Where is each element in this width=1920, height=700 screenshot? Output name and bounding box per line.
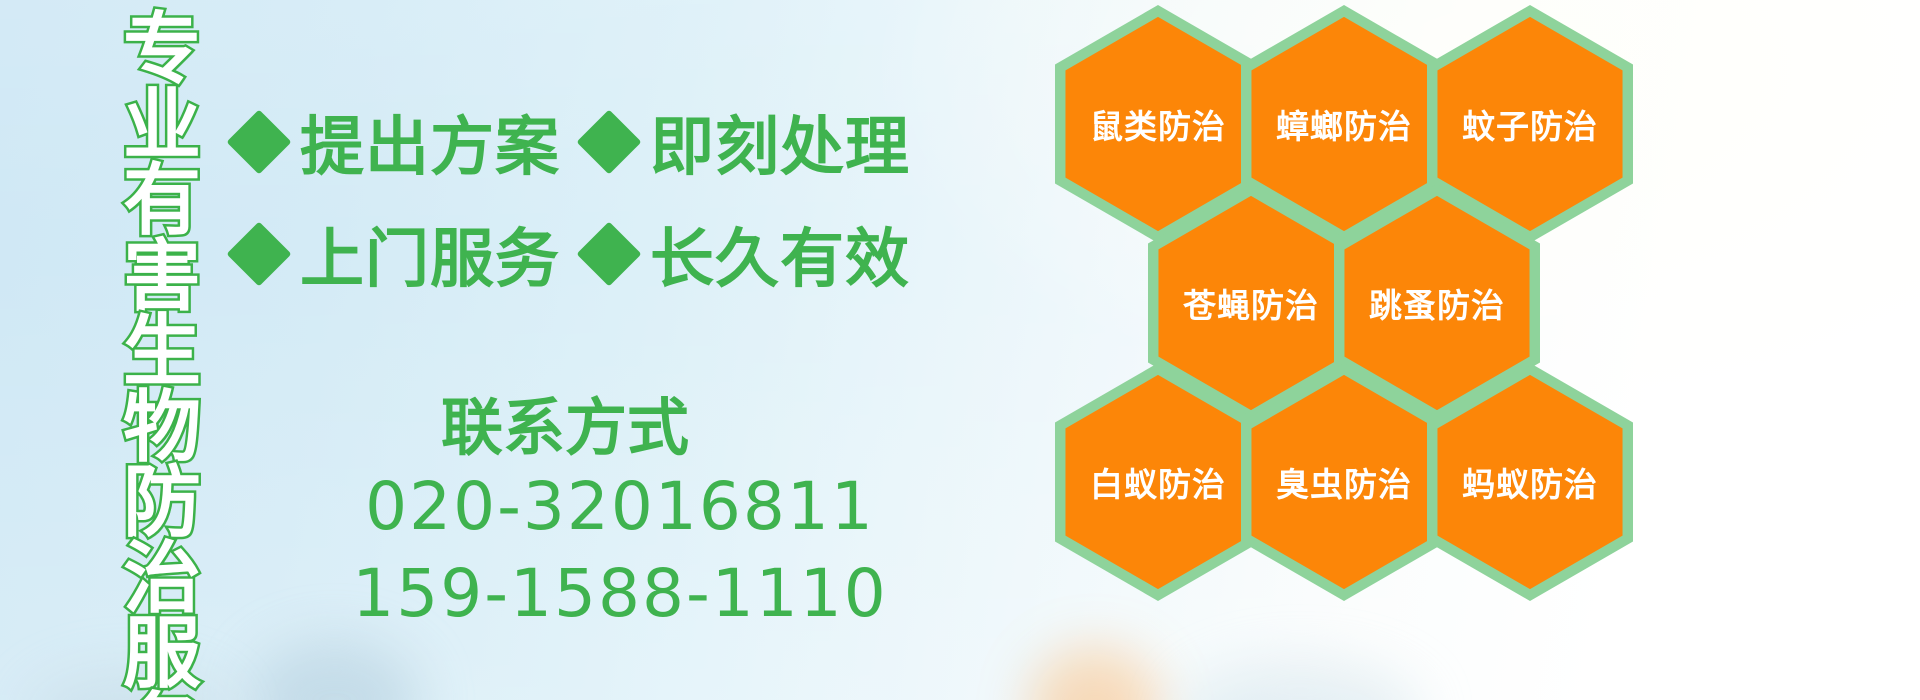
vertical-headline-char: 业	[123, 90, 201, 163]
phone-number-landline[interactable]: 020-32016811	[300, 463, 940, 550]
vertical-headline-char: 服	[123, 618, 201, 691]
background-blur-shape-left	[250, 640, 420, 700]
service-label: 白蚁防治	[1055, 458, 1261, 506]
feature-label: 上门服务	[300, 208, 560, 300]
vertical-headline-char: 生	[123, 316, 201, 389]
feature-row: 提出方案 即刻处理	[236, 86, 876, 198]
pest-control-banner: 专 业 有 害 生 物 防 治 服 务 提出方案 即刻处理 上门服务	[0, 0, 1920, 700]
vertical-headline-char: 专	[123, 14, 201, 87]
feature-row: 上门服务 长久有效	[236, 198, 876, 310]
diamond-icon	[226, 109, 291, 174]
vertical-headline-char: 有	[123, 165, 201, 238]
feature-list: 提出方案 即刻处理 上门服务 长久有效	[236, 86, 876, 310]
service-hex-termite[interactable]: 白蚁防治	[1055, 363, 1261, 601]
service-label: 鼠类防治	[1055, 100, 1261, 148]
vertical-headline-char: 害	[123, 241, 201, 314]
feature-item-propose-plan: 提出方案	[236, 96, 560, 188]
service-hex-bedbug[interactable]: 臭虫防治	[1241, 363, 1447, 601]
contact-title: 联系方式	[190, 392, 940, 463]
vertical-headline-char: 防	[123, 467, 201, 540]
feature-label: 提出方案	[300, 96, 560, 188]
service-label: 跳蚤防治	[1334, 279, 1540, 327]
service-label: 蚂蚁防治	[1427, 458, 1633, 506]
diamond-icon	[576, 109, 641, 174]
contact-block: 联系方式 020-32016811 159-1588-1110	[300, 392, 940, 638]
feature-item-long-lasting: 长久有效	[586, 208, 910, 300]
diamond-icon	[576, 221, 641, 286]
service-label: 蟑螂防治	[1241, 100, 1447, 148]
service-label: 臭虫防治	[1241, 458, 1447, 506]
feature-label: 长久有效	[650, 208, 910, 300]
diamond-icon	[226, 221, 291, 286]
vertical-headline-char: 治	[123, 543, 201, 616]
phone-number-mobile[interactable]: 159-1588-1110	[300, 550, 940, 637]
feature-item-onsite-service: 上门服务	[236, 208, 560, 300]
service-hex-ant[interactable]: 蚂蚁防治	[1427, 363, 1633, 601]
service-label: 苍蝇防治	[1148, 279, 1354, 327]
feature-label: 即刻处理	[650, 96, 910, 188]
service-hexagon-grid: 鼠类防治 蟑螂防治 蚊子防治 苍蝇防治 跳蚤防治 白蚁防治	[1055, 0, 1475, 700]
vertical-headline: 专 业 有 害 生 物 防 治 服 务	[110, 14, 214, 686]
feature-item-immediate-handling: 即刻处理	[586, 96, 910, 188]
service-label: 蚊子防治	[1427, 100, 1633, 148]
vertical-headline-char: 务	[123, 694, 201, 700]
